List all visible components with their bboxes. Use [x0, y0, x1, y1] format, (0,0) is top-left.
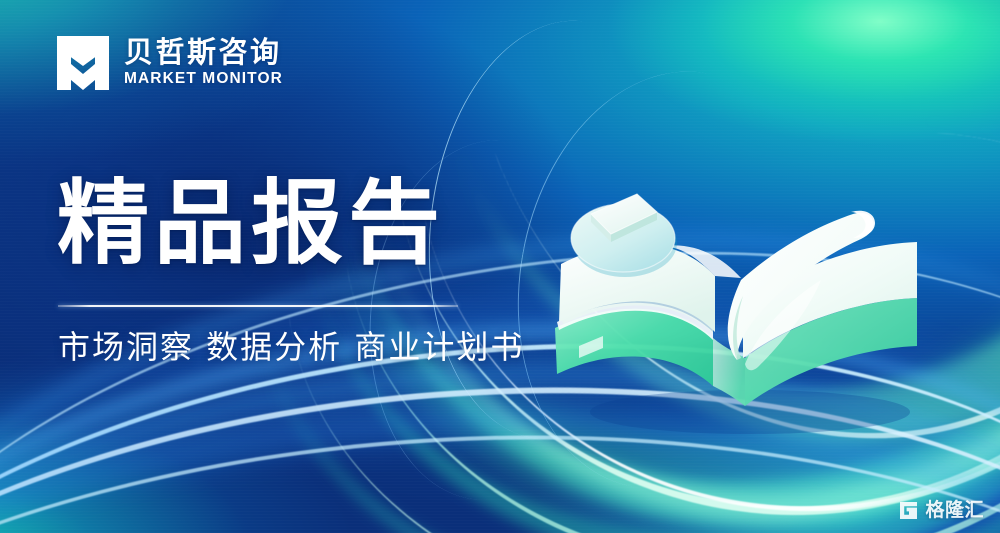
- pie-chart-disc-icon: [571, 194, 677, 277]
- watermark-text: 格隆汇: [925, 501, 984, 520]
- gelonghui-g-logo-icon: [898, 500, 919, 521]
- promo-banner: 贝哲斯咨询 MARKET MONITOR 精品报告 市场洞察 数据分析 商业计划…: [0, 0, 1000, 533]
- brand-logo[interactable]: 贝哲斯咨询 MARKET MONITOR: [55, 34, 283, 92]
- page-subtitle: 市场洞察 数据分析 商业计划书: [58, 327, 524, 367]
- open-book-illustration: [545, 150, 945, 440]
- headline-divider: [58, 305, 458, 307]
- watermark: 格隆汇: [898, 500, 984, 521]
- brand-name-en: MARKET MONITOR: [124, 71, 283, 87]
- open-book-icon: [545, 150, 945, 440]
- market-monitor-m-logo-icon: [55, 34, 111, 92]
- page-title: 精品报告: [57, 176, 445, 272]
- brand-name-cn: 贝哲斯咨询: [124, 39, 283, 68]
- headline-block: 精品报告: [57, 176, 445, 272]
